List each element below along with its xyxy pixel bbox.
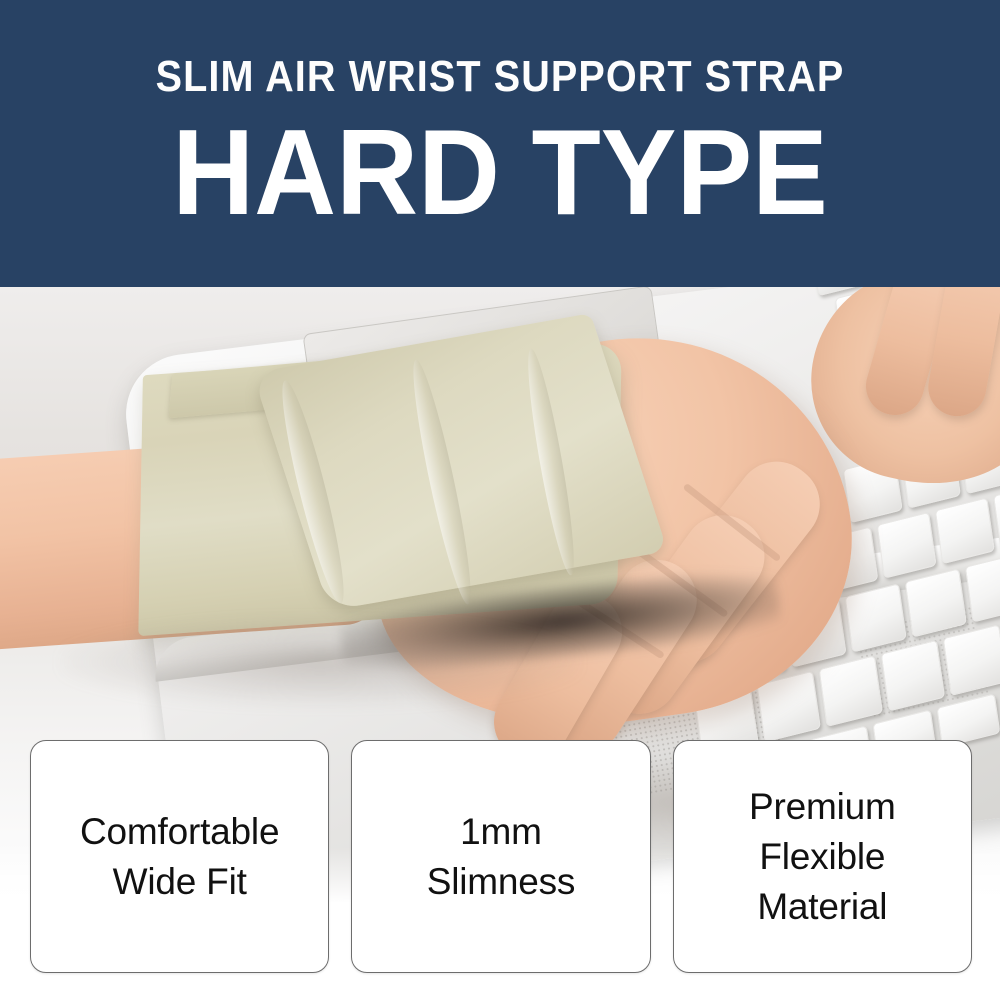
feature-card-comfortable-wide-fit[interactable]: Comfortable Wide Fit: [30, 740, 329, 973]
arm-soft-shadow: [60, 617, 580, 707]
feature-card-label: Comfortable Wide Fit: [80, 807, 279, 907]
product-banner: SLIM AIR WRIST SUPPORT STRAP HARD TYPE: [0, 0, 1000, 1000]
feature-card-label: 1mm Slimness: [427, 807, 576, 907]
feature-card-row: Comfortable Wide Fit 1mm Slimness Premiu…: [30, 740, 972, 973]
feature-card-premium-flexible-material[interactable]: Premium Flexible Material: [673, 740, 972, 973]
header-band: SLIM AIR WRIST SUPPORT STRAP HARD TYPE: [0, 0, 1000, 287]
header-title: HARD TYPE: [35, 112, 965, 232]
header-subtitle: SLIM AIR WRIST SUPPORT STRAP: [50, 54, 950, 100]
feature-card-label: Premium Flexible Material: [749, 782, 896, 932]
feature-card-1mm-slimness[interactable]: 1mm Slimness: [351, 740, 650, 973]
